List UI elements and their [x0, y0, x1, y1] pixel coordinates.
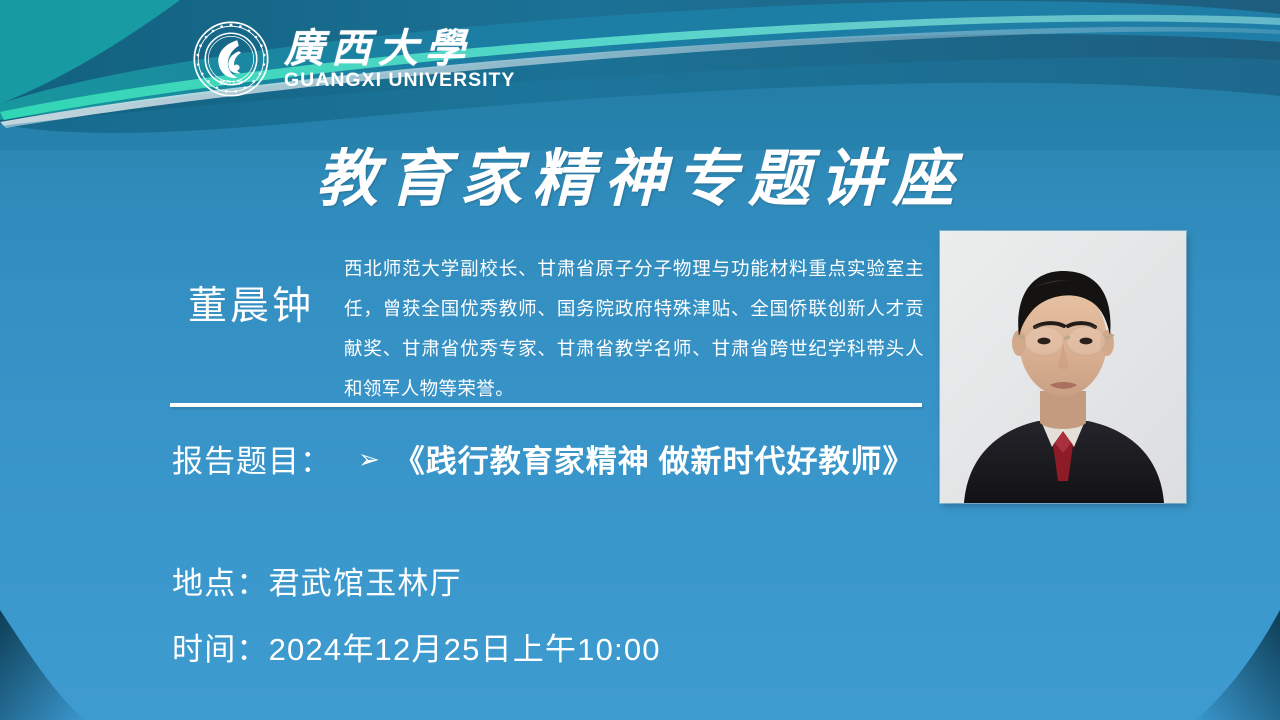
svg-text:1928: 1928 — [226, 67, 237, 73]
university-name-en: GUANGXI UNIVERSITY — [284, 71, 515, 91]
arrow-bullet-icon: ➢ — [358, 446, 380, 472]
guangxi-university-seal-icon: 1928 廣西大學 — [192, 20, 270, 98]
speaker-bio: 西北师范大学副校长、甘肃省原子分子物理与功能材料重点实验室主任，曾获全国优秀教师… — [344, 250, 924, 410]
lecture-poster-slide: 1928 廣西大學 廣西大學 GUANGXI UNIVERSITY 教育家精神专… — [0, 0, 1280, 720]
topic-title: 《践行教育家精神 做新时代好教师》 — [394, 436, 915, 481]
speaker-name: 董晨钟 — [166, 275, 336, 331]
university-name-cn: 廣西大學 — [284, 27, 515, 70]
decorative-corner-bottom-right — [1160, 610, 1280, 720]
section-divider — [170, 403, 922, 407]
page-title: 教育家精神专题讲座 — [0, 128, 1280, 218]
topic-label: 报告题目： — [172, 436, 332, 481]
decorative-corner-bottom-left — [0, 610, 120, 720]
university-logo: 1928 廣西大學 廣西大學 GUANGXI UNIVERSITY — [192, 20, 515, 98]
event-time: 时间：2024年12月25日上午10:00 — [172, 624, 661, 669]
event-place: 地点：君武馆玉林厅 — [172, 558, 462, 603]
speaker-portrait — [940, 231, 1186, 503]
university-wordmark: 廣西大學 GUANGXI UNIVERSITY — [284, 27, 515, 91]
topic-row: 报告题目： ➢ 《践行教育家精神 做新时代好教师》 — [172, 436, 915, 481]
